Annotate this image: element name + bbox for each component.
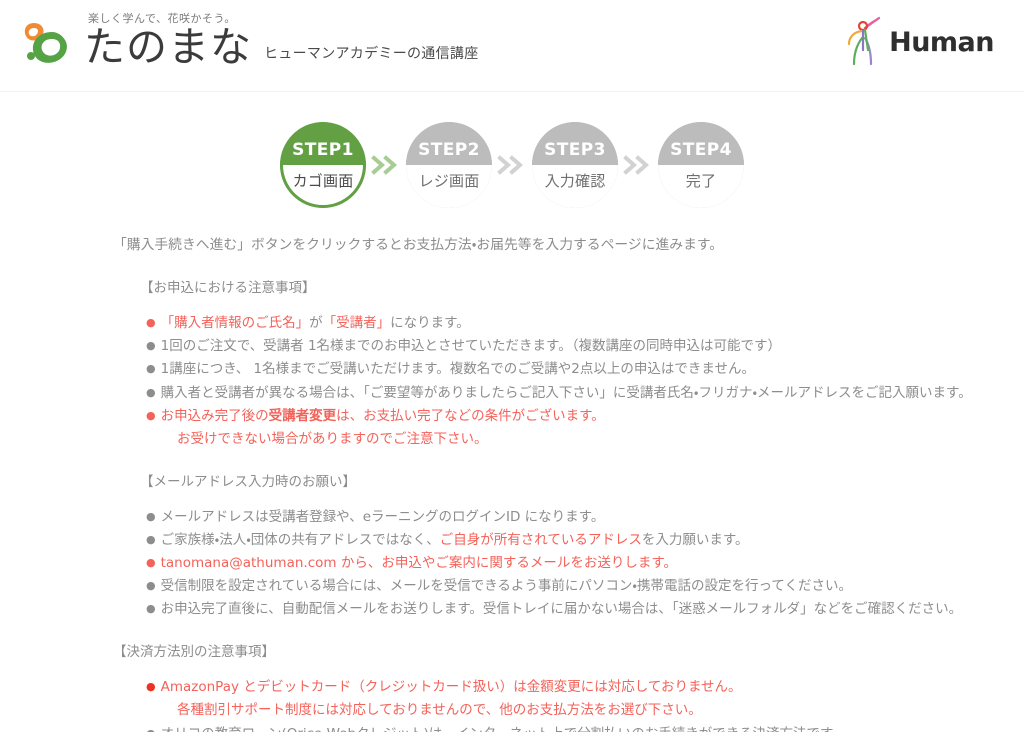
list-item: ● お申込み完了後の受講者変更は、お支払い完了などの条件がございます。 <box>146 405 1024 427</box>
bullet-dot-icon: ● <box>146 335 156 356</box>
bullet-dot-icon: ● <box>146 598 156 619</box>
corporate-name: Human <box>889 27 994 58</box>
list-item: ● tanomana@athuman.com から、お申込やご案内に関するメール… <box>146 552 1024 574</box>
list-item: ● 受信制限を設定されている場合には、メールを受信できるよう事前にパソコン・携帯… <box>146 575 1024 597</box>
list-item: ● メールアドレスは受講者登録や、eラーニングのログインID になります。 <box>146 506 1024 528</box>
tanomana-leaf-logo-icon <box>22 16 80 68</box>
list-item-text: ご家族様・法人・団体の共有アドレスではなく、ご自身が所有されているアドレスを入力… <box>161 529 1024 551</box>
double-chevron-right-icon-2 <box>495 155 529 175</box>
note-connector: が <box>309 315 323 331</box>
sender-email-address[interactable]: tanomana@athuman.com <box>161 555 337 571</box>
bullet-dot-icon: ● <box>146 506 156 527</box>
brand-logo[interactable]: 楽しく学んで、花咲かそう。 たのまな ヒューマンアカデミーの通信講座 <box>22 10 479 68</box>
list-item: ● 「購入者情報のご氏名」が「受講者」になります。 <box>146 312 1024 334</box>
list-item-text: tanomana@athuman.com から、お申込やご案内に関するメールをお… <box>161 552 1024 574</box>
step-4-label: 完了 <box>686 170 716 191</box>
list-item-text: 1回のご注文で、受講者 1名様までのお申込とさせていただきます。（複数講座の同時… <box>161 335 1024 357</box>
email-note-suffix: を入力願います。 <box>642 532 749 548</box>
bullet-dot-icon: ● <box>146 552 156 573</box>
sender-email-note: から、お申込やご案内に関するメールをお送りします。 <box>337 555 677 571</box>
step-3-number: STEP3 <box>544 140 606 160</box>
step-1-cart[interactable]: STEP1 カゴ画面 <box>280 122 366 208</box>
list-item: ● 購入者と受講者が異なる場合は、「ご要望等がありましたらご記入下さい」に受講者… <box>146 382 1024 404</box>
section-heading-email-notes: 【メールアドレス入力時のお願い】 <box>0 472 1024 494</box>
list-item-text: 1講座につき、 1名様までご受講いただけます。複数名でのご受講や2点以上の申込は… <box>161 358 1024 380</box>
list-item-text: AmazonPay とデビットカード（クレジットカード扱い）は金額変更には対応し… <box>161 676 1024 698</box>
step-1-label: カゴ画面 <box>293 170 354 191</box>
bullet-dot-icon: ● <box>146 529 156 550</box>
note-tail: になります。 <box>390 315 470 331</box>
corporate-logo[interactable]: Human <box>843 16 994 68</box>
brand-name: たのまな <box>84 27 252 68</box>
bullet-dot-icon: ● <box>146 723 156 732</box>
note-student-term: 「受講者」 <box>323 315 391 331</box>
list-item-subline: 各種割引サポート制度には対応しておりませんので、他のお支払方法をお選び下さい。 <box>146 699 1024 721</box>
bullet-dot-icon: ● <box>146 312 156 333</box>
page-root: 楽しく学んで、花咲かそう。 たのまな ヒューマンアカデミーの通信講座 <box>0 0 1024 732</box>
brand-subtitle: ヒューマンアカデミーの通信講座 <box>264 43 479 63</box>
step-4-number: STEP4 <box>670 140 732 160</box>
list-item-text: お申込完了直後に、自動配信メールをお送りします。受信トレイに届かない場合は、「迷… <box>161 598 1024 620</box>
email-notes-list: ● メールアドレスは受講者登録や、eラーニングのログインID になります。 ● … <box>0 506 1024 621</box>
email-note-emphasis: ご自身が所有されているアドレス <box>440 532 642 548</box>
step-2-number: STEP2 <box>418 140 480 160</box>
list-item-subline: お受けできない場合がありますのでご注意下さい。 <box>146 428 1024 450</box>
list-item-text: オリコの教育ローン(Orico Webクレジット)は、インターネット上で分割払い… <box>161 723 1024 732</box>
payment-notes-list: ● AmazonPay とデビットカード（クレジットカード扱い）は金額変更には対… <box>0 676 1024 732</box>
step-1-number: STEP1 <box>292 140 354 160</box>
double-chevron-right-icon-1 <box>369 155 403 175</box>
list-item: ● AmazonPay とデビットカード（クレジットカード扱い）は金額変更には対… <box>146 676 1024 698</box>
human-figure-logo-icon <box>843 16 887 68</box>
list-item: ● お申込完了直後に、自動配信メールをお送りします。受信トレイに届かない場合は、… <box>146 598 1024 620</box>
list-item-text: 「購入者情報のご氏名」が「受講者」になります。 <box>161 312 1024 334</box>
note-change-suffix: は、お支払い完了などの条件がございます。 <box>336 408 605 424</box>
application-notes-list: ● 「購入者情報のご氏名」が「受講者」になります。 ● 1回のご注文で、受講者 … <box>0 312 1024 450</box>
bullet-dot-icon: ● <box>146 382 156 403</box>
lead-instruction: 「購入手続きへ進む」ボタンをクリックするとお支払方法・お届先等を入力するページに… <box>0 234 1024 256</box>
double-chevron-right-icon-3 <box>621 155 655 175</box>
list-item-text: 購入者と受講者が異なる場合は、「ご要望等がありましたらご記入下さい」に受講者氏名… <box>161 382 1024 404</box>
list-item-text: お申込み完了後の受講者変更は、お支払い完了などの条件がございます。 <box>161 405 1024 427</box>
list-item: ● オリコの教育ローン(Orico Webクレジット)は、インターネット上で分割… <box>146 723 1024 732</box>
step-4-complete[interactable]: STEP4 完了 <box>658 122 744 208</box>
note-change-prefix: お申込み完了後の <box>161 408 269 424</box>
list-item: ● ご家族様・法人・団体の共有アドレスではなく、ご自身が所有されているアドレスを… <box>146 529 1024 551</box>
section-heading-application-notes: 【お申込における注意事項】 <box>0 278 1024 300</box>
note-change-emphasis: 受講者変更 <box>269 408 337 424</box>
list-item: ● 1回のご注文で、受講者 1名様までのお申込とさせていただきます。（複数講座の… <box>146 335 1024 357</box>
section-heading-payment-notes: 【決済方法別の注意事項】 <box>0 642 1024 664</box>
bullet-dot-icon: ● <box>146 405 156 426</box>
list-item-text: 受信制限を設定されている場合には、メールを受信できるよう事前にパソコン・携帯電話… <box>161 575 1024 597</box>
site-header: 楽しく学んで、花咲かそう。 たのまな ヒューマンアカデミーの通信講座 <box>0 0 1024 92</box>
list-item-text: メールアドレスは受講者登録や、eラーニングのログインID になります。 <box>161 506 1024 528</box>
step-3-label: 入力確認 <box>545 170 606 191</box>
checkout-step-indicator: STEP1 カゴ画面 STEP2 レジ画面 STEP3 入力確認 <box>0 122 1024 208</box>
list-item: ● 1講座につき、 1名様までご受講いただけます。複数名でのご受講や2点以上の申… <box>146 358 1024 380</box>
step-2-label: レジ画面 <box>419 170 480 191</box>
step-2-register[interactable]: STEP2 レジ画面 <box>406 122 492 208</box>
step-3-confirm[interactable]: STEP3 入力確認 <box>532 122 618 208</box>
bullet-dot-icon: ● <box>146 676 156 697</box>
email-note-prefix: ご家族様・法人・団体の共有アドレスではなく、 <box>161 532 440 548</box>
bullet-dot-icon: ● <box>146 575 156 596</box>
notice-content: 「購入手続きへ進む」ボタンをクリックするとお支払方法・お届先等を入力するページに… <box>0 234 1024 732</box>
note-purchaser-name: 「購入者情報のご氏名」 <box>161 315 310 331</box>
bullet-dot-icon: ● <box>146 358 156 379</box>
